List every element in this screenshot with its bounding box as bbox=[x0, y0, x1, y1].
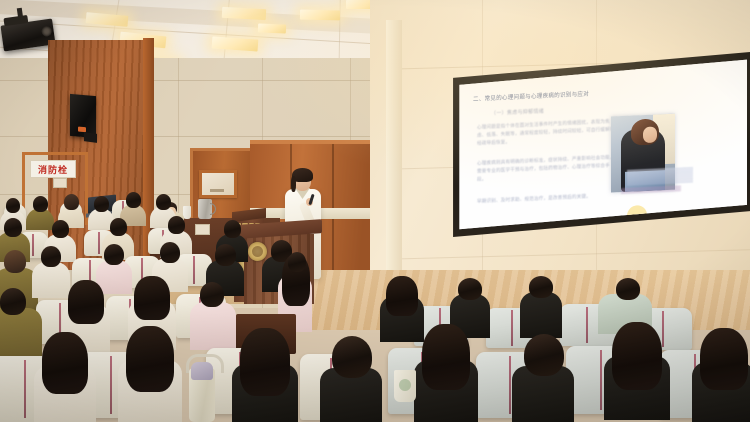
ceiling-light-panel bbox=[212, 36, 259, 51]
audience-head bbox=[0, 288, 26, 315]
ceiling-light-panel bbox=[222, 7, 267, 20]
wall-plaque bbox=[199, 170, 237, 198]
audience-long-hair bbox=[126, 326, 174, 392]
audience-area bbox=[0, 196, 750, 422]
audience-head bbox=[458, 278, 482, 300]
audience-head bbox=[4, 250, 26, 273]
paper-cup-icon bbox=[394, 370, 416, 402]
audience-head bbox=[156, 194, 171, 210]
speaker-bracket bbox=[84, 132, 97, 143]
audience-head bbox=[215, 244, 236, 266]
audience-long-hair bbox=[240, 328, 290, 396]
audience-head bbox=[94, 196, 109, 212]
audience-head bbox=[64, 194, 79, 210]
audience-head bbox=[200, 282, 224, 307]
audience-long-hair bbox=[386, 276, 418, 316]
audience-head bbox=[288, 252, 306, 272]
ceiling-light-panel bbox=[258, 24, 286, 34]
slide-watermark-secondary bbox=[621, 185, 681, 194]
audience-head bbox=[126, 192, 141, 208]
ceiling-light-panel bbox=[86, 12, 129, 27]
audience-long-hair bbox=[422, 324, 470, 390]
audience-long-hair bbox=[612, 322, 662, 390]
fire-hydrant-sign-text: 消防栓 bbox=[38, 163, 68, 176]
slide-heading: 二、常见的心理问题与心理疾病的识别与应对 bbox=[473, 90, 589, 103]
wall-outlet[interactable] bbox=[53, 178, 67, 188]
audience-head bbox=[168, 216, 185, 234]
slide-subheading: （一）焦虑与抑郁情绪 bbox=[491, 108, 544, 117]
audience-head bbox=[529, 276, 553, 298]
audience-head bbox=[104, 244, 124, 265]
audience-head bbox=[41, 246, 61, 267]
speaker-icon bbox=[70, 94, 96, 138]
audience-member bbox=[32, 262, 70, 298]
audience-member bbox=[190, 302, 236, 350]
fire-hydrant-sign: 消防栓 bbox=[30, 160, 76, 178]
audience-head bbox=[224, 220, 241, 238]
slide-watermark bbox=[627, 167, 693, 186]
audience-long-hair bbox=[700, 328, 748, 390]
audience-long-hair bbox=[134, 276, 170, 320]
audience-head bbox=[110, 218, 127, 236]
audience-head bbox=[160, 242, 180, 263]
audience-long-hair bbox=[68, 280, 104, 324]
audience-head bbox=[33, 196, 48, 212]
audience-long-hair bbox=[42, 332, 88, 394]
audience-member bbox=[520, 292, 562, 338]
audience-head bbox=[6, 198, 20, 213]
audience-head bbox=[4, 218, 22, 237]
audience-head bbox=[52, 220, 69, 238]
slide-paragraph: 心理疾病则具有明确的诊断标准，症状持续、严重影响社会功能，需要专业的医学干预与治… bbox=[477, 154, 617, 184]
audience-head bbox=[524, 334, 564, 376]
ceiling-light-panel bbox=[300, 10, 340, 21]
slide-paragraph: 心理问题是指个体在面对生活事件时产生的情绪困扰，表现为焦虑、低落、失眠等，通常程… bbox=[477, 118, 617, 148]
bottle-cap bbox=[191, 362, 213, 380]
lecture-hall-photo: 消防栓 二、常见的心理问题与心理疾病的识别与应对 （一）焦虑与抑郁情绪 心理问题… bbox=[0, 0, 750, 422]
audience-head bbox=[616, 278, 640, 300]
audience-head bbox=[332, 336, 372, 378]
